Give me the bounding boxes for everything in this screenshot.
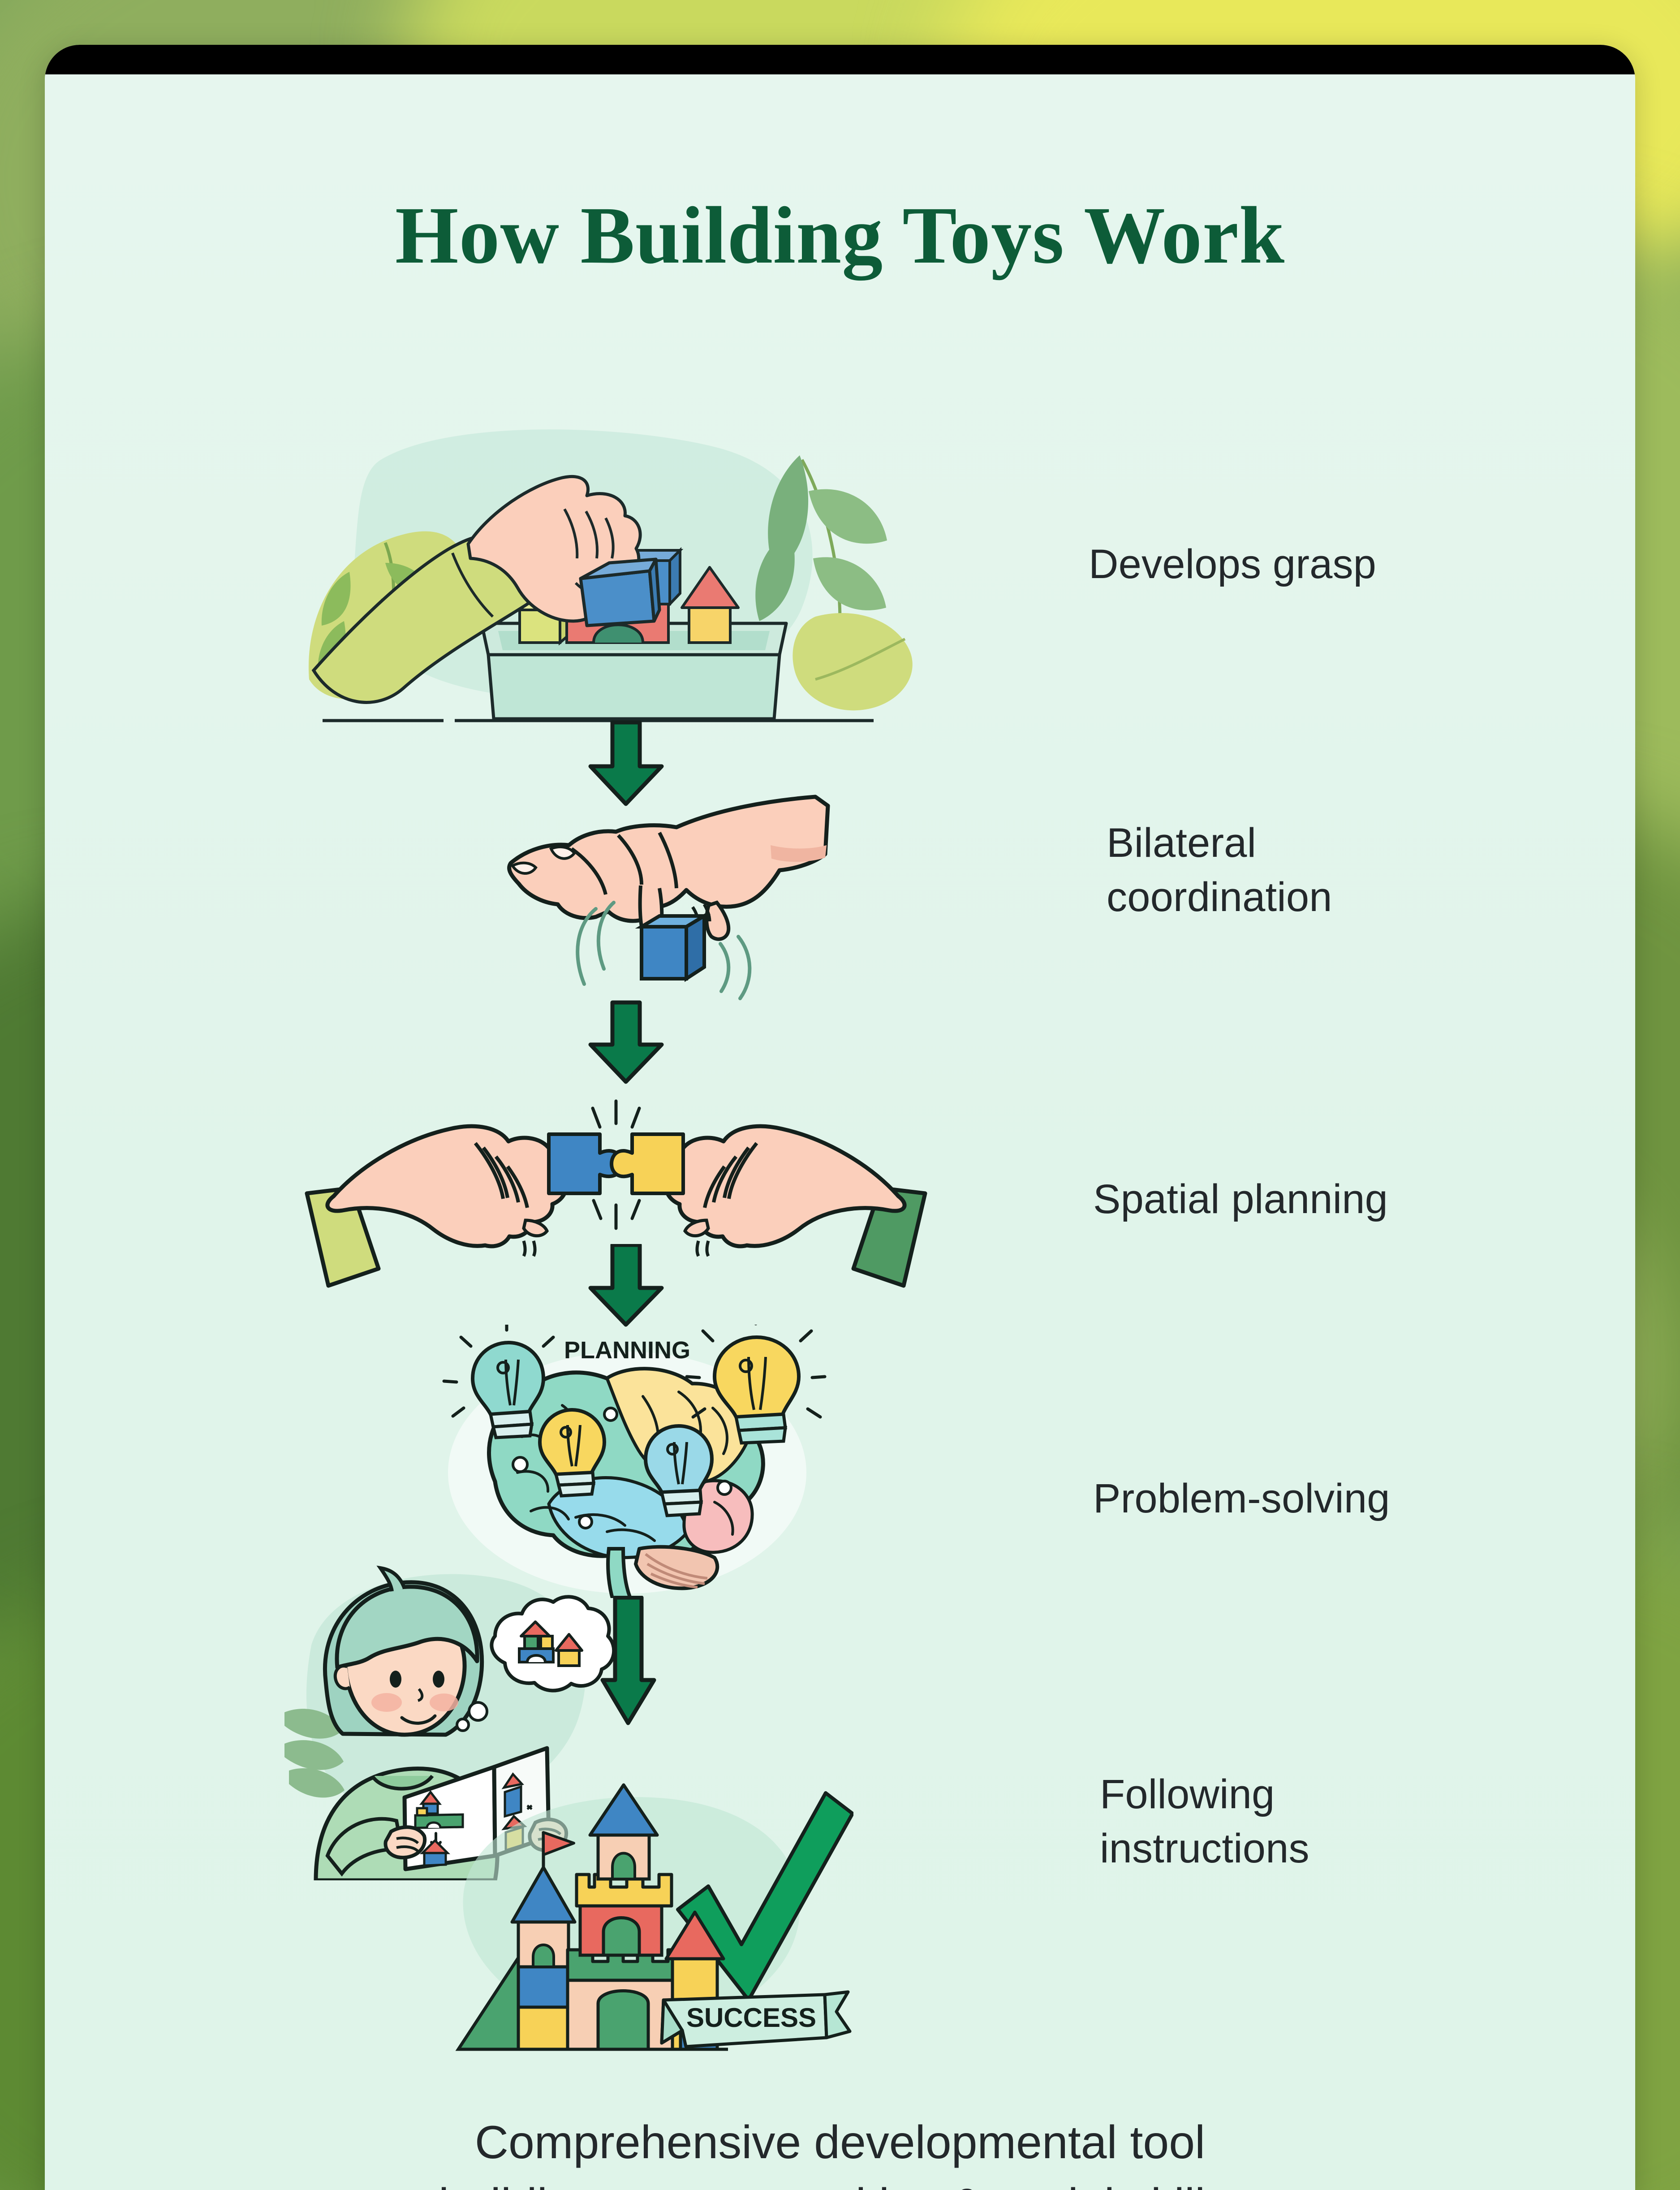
- page-title: How Building Toys Work: [45, 189, 1635, 282]
- flow-arrow-down-icon: [585, 1000, 668, 1085]
- step-label-develops-grasp: Develops grasp: [1089, 537, 1376, 592]
- step-label-following-instructions: Following instructions: [1100, 1767, 1310, 1876]
- step-label-problem-solving: Problem-solving: [1093, 1472, 1390, 1526]
- footer-caption: Comprehensive developmental tool buildin…: [45, 2111, 1635, 2190]
- card-top-bar: [45, 45, 1635, 74]
- step-label-spatial-planning: Spatial planning: [1093, 1172, 1388, 1227]
- illustration-hand-pinching-cube: [484, 782, 838, 1002]
- illustration-block-castle-with-checkmark: SUCCESS: [450, 1780, 853, 2069]
- brain-planning-label: PLANNING: [564, 1337, 690, 1364]
- card-body: How Building Toys Work: [45, 74, 1635, 2190]
- flow-arrow-down-icon: [585, 1244, 668, 1327]
- infographic-card: How Building Toys Work: [45, 45, 1635, 2190]
- illustration-hand-placing-block-in-toy-box: [296, 428, 918, 724]
- success-ribbon-label: SUCCESS: [686, 2003, 816, 2033]
- step-label-bilateral-coordination: Bilateral coordination: [1107, 816, 1332, 925]
- success-ribbon: SUCCESS: [662, 1992, 850, 2047]
